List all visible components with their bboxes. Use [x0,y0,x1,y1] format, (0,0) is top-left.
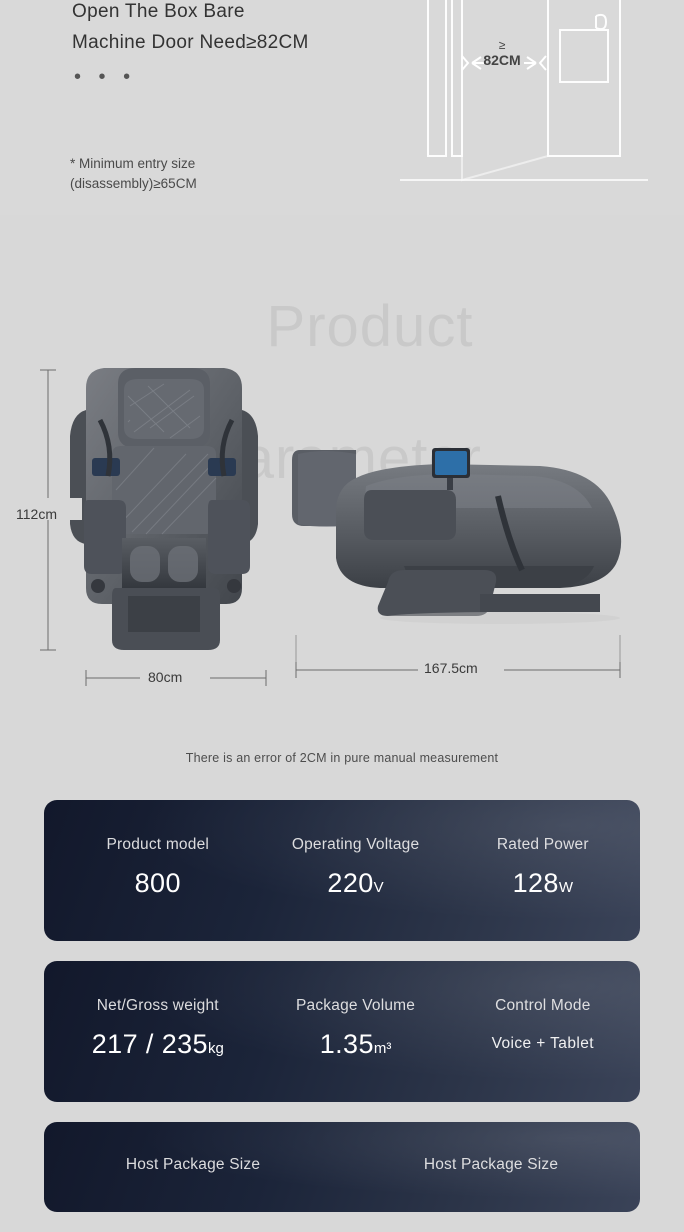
spec-value-unit: V [374,879,384,896]
spec-label: Product model [56,836,260,854]
spec-value: 1.35m³ [260,1029,452,1060]
spec-card-1: Product model 800 Operating Voltage 220V… [44,800,640,941]
spec-value-number: 217 / 235 [92,1029,208,1059]
measurement-error-note: There is an error of 2CM in pure manual … [0,751,684,765]
spec-card-2: Net/Gross weight 217 / 235kg Package Vol… [44,961,640,1102]
spec-cell-host-package-size-2: Host Package Size [342,1156,640,1212]
door-width-label: ≥ 82CM [462,38,542,68]
spec-label: Host Package Size [44,1156,342,1174]
dimension-length-label: 167.5cm [424,660,478,676]
top-section: Open The Box Bare Machine Door Need≥82CM… [0,0,684,215]
spec-label: Host Package Size [342,1156,640,1174]
spec-card-3: Host Package Size Host Package Size [44,1122,640,1212]
spec-value: Voice + Tablet [452,1035,634,1053]
top-heading: Open The Box Bare Machine Door Need≥82CM [72,0,309,58]
spec-value-number: 128 [513,868,559,898]
spec-value-unit: W [559,879,573,896]
spec-cell-rated-power: Rated Power 128W [452,836,640,941]
door-width-value: 82CM [483,52,520,68]
chair-front-view [70,368,258,650]
spec-label: Package Volume [260,997,452,1015]
spec-cell-control-mode: Control Mode Voice + Tablet [452,997,640,1102]
spec-value: 800 [56,868,260,899]
spec-value-number: 800 [135,868,181,898]
chair-side-view [292,448,621,624]
spec-value-unit: m³ [374,1040,392,1057]
dimension-width-label: 80cm [148,669,182,685]
door-diagram: ≥ 82CM [400,0,650,190]
spec-value-number: 220 [327,868,373,898]
door-diagram-svg [400,0,650,190]
spec-cell-operating-voltage: Operating Voltage 220V [260,836,452,941]
spec-label: Control Mode [452,997,634,1015]
spec-value: 217 / 235kg [56,1029,260,1060]
spec-label: Net/Gross weight [56,997,260,1015]
spec-cell-net-gross-weight: Net/Gross weight 217 / 235kg [44,997,260,1102]
spec-value: 128W [452,868,634,899]
spec-cell-package-volume: Package Volume 1.35m³ [260,997,452,1102]
door-width-symbol: ≥ [462,38,542,53]
spec-label: Rated Power [452,836,634,854]
spec-cards: Product model 800 Operating Voltage 220V… [44,800,640,1232]
minimum-entry-note: * Minimum entry size (disassembly)≥65CM [70,154,197,194]
spec-value-number: 1.35 [320,1029,374,1059]
spec-value-unit: kg [208,1040,224,1057]
spec-cell-host-package-size-1: Host Package Size [44,1156,342,1212]
spec-value: 220V [260,868,452,899]
product-diagram-svg [0,350,684,710]
product-dimension-diagram [0,350,684,710]
spec-cell-product-model: Product model 800 [44,836,260,941]
spec-label: Operating Voltage [260,836,452,854]
dimension-height-label: 112cm [16,506,57,522]
ellipsis-separator: • • • [74,66,136,89]
